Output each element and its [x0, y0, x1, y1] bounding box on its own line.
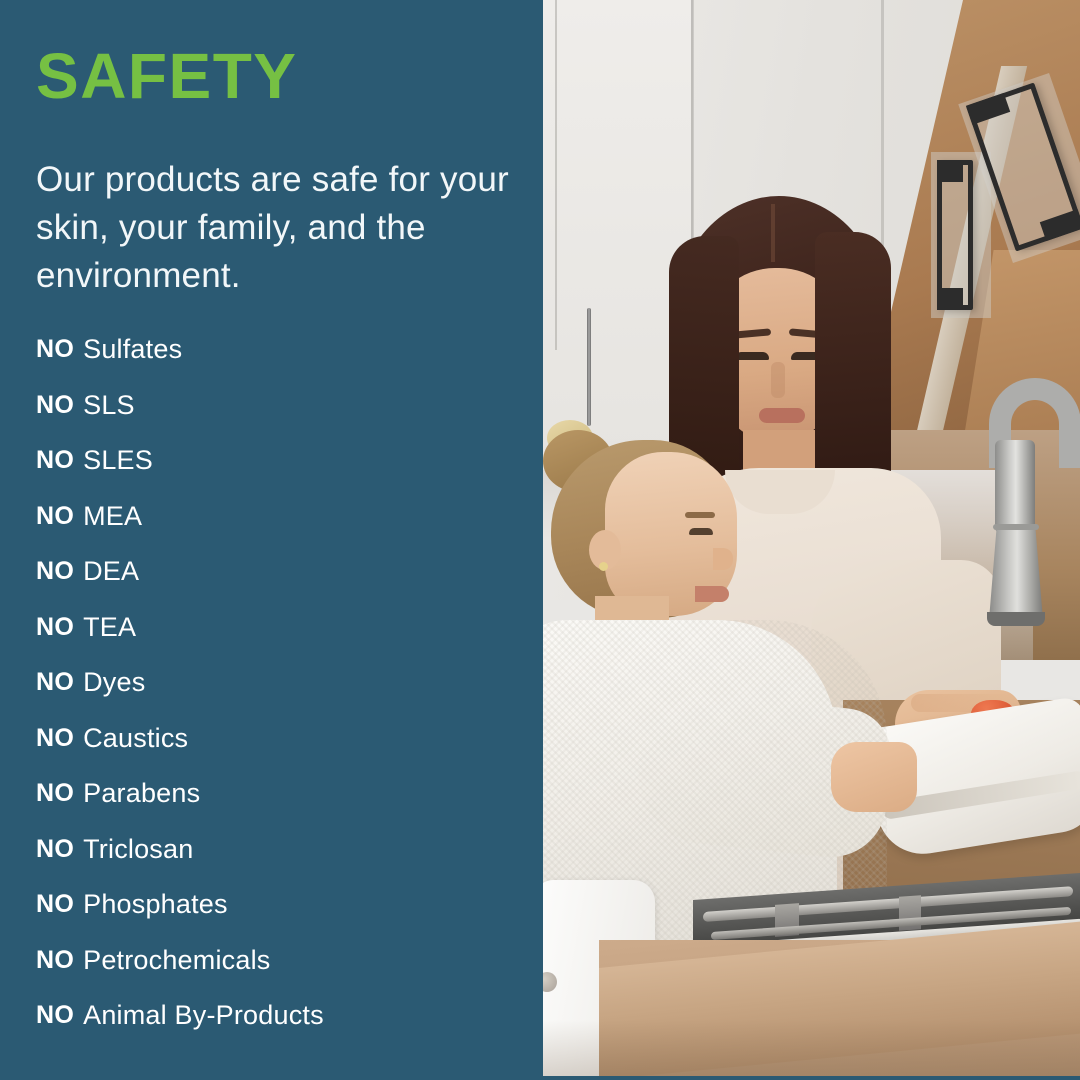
no-tag: NO	[36, 1001, 74, 1030]
toddler-hand	[831, 742, 917, 812]
list-item: NO Sulfates	[36, 322, 536, 378]
no-tag: NO	[36, 835, 74, 864]
ingredient-label: Petrochemicals	[83, 945, 270, 976]
toddler-nose	[713, 548, 733, 570]
no-tag: NO	[36, 779, 74, 808]
list-item: NO SLS	[36, 378, 536, 434]
ingredient-label: Animal By-Products	[83, 1000, 324, 1031]
toddler-eye	[689, 528, 713, 535]
no-tag: NO	[36, 335, 74, 364]
list-item: NO Animal By-Products	[36, 988, 536, 1044]
no-tag: NO	[36, 613, 74, 642]
list-item: NO Triclosan	[36, 822, 536, 878]
ingredient-label: Phosphates	[83, 889, 228, 920]
page-title: SAFETY	[36, 44, 297, 108]
ingredient-label: Triclosan	[83, 834, 193, 865]
faucet-band	[993, 524, 1039, 530]
ingredient-label: SLS	[83, 390, 135, 421]
list-item: NO Parabens	[36, 766, 536, 822]
faucet-aerator	[987, 612, 1045, 626]
no-tag: NO	[36, 446, 74, 475]
faucet-neck	[995, 440, 1035, 532]
toddler-mouth	[695, 586, 729, 602]
woman-hair-part	[771, 204, 775, 262]
kitchen-photo	[540, 0, 1080, 1080]
list-item: NO Caustics	[36, 711, 536, 767]
ingredient-label: Parabens	[83, 778, 200, 809]
list-item: NO MEA	[36, 489, 536, 545]
woman-mouth	[759, 408, 805, 423]
no-tag: NO	[36, 502, 74, 531]
ingredient-label: Dyes	[83, 667, 145, 698]
ingredient-label: Sulfates	[83, 334, 182, 365]
no-tag: NO	[36, 946, 74, 975]
ingredient-label: DEA	[83, 556, 139, 587]
subheadline-text: Our products are safe for your skin, you…	[36, 156, 516, 300]
list-item: NO SLES	[36, 433, 536, 489]
counter-shadow	[543, 1020, 1080, 1080]
ingredient-label: TEA	[83, 612, 136, 643]
no-tag: NO	[36, 724, 74, 753]
no-tag: NO	[36, 890, 74, 919]
ingredient-label: Caustics	[83, 723, 188, 754]
free-from-list: NO Sulfates NO SLS NO SLES NO MEA NO DEA…	[36, 322, 536, 1044]
wall-rod	[587, 308, 591, 426]
list-item: NO Phosphates	[36, 877, 536, 933]
no-tag: NO	[36, 668, 74, 697]
ingredient-label: MEA	[83, 501, 142, 532]
list-item: NO DEA	[36, 544, 536, 600]
safety-poster: SAFETY Our products are safe for your sk…	[0, 0, 1080, 1080]
safety-text-panel: SAFETY Our products are safe for your sk…	[0, 0, 540, 1080]
faucet-head	[989, 528, 1043, 620]
list-item: NO Petrochemicals	[36, 933, 536, 989]
woman-eye	[735, 352, 769, 360]
toddler-earring	[599, 562, 608, 571]
cabinet-handle-icon	[937, 160, 973, 310]
toddler-eyebrow	[685, 512, 715, 518]
list-item: NO Dyes	[36, 655, 536, 711]
list-item: NO TEA	[36, 600, 536, 656]
no-tag: NO	[36, 557, 74, 586]
no-tag: NO	[36, 391, 74, 420]
wall-seam	[555, 0, 557, 350]
woman-nose	[771, 362, 785, 398]
ingredient-label: SLES	[83, 445, 153, 476]
